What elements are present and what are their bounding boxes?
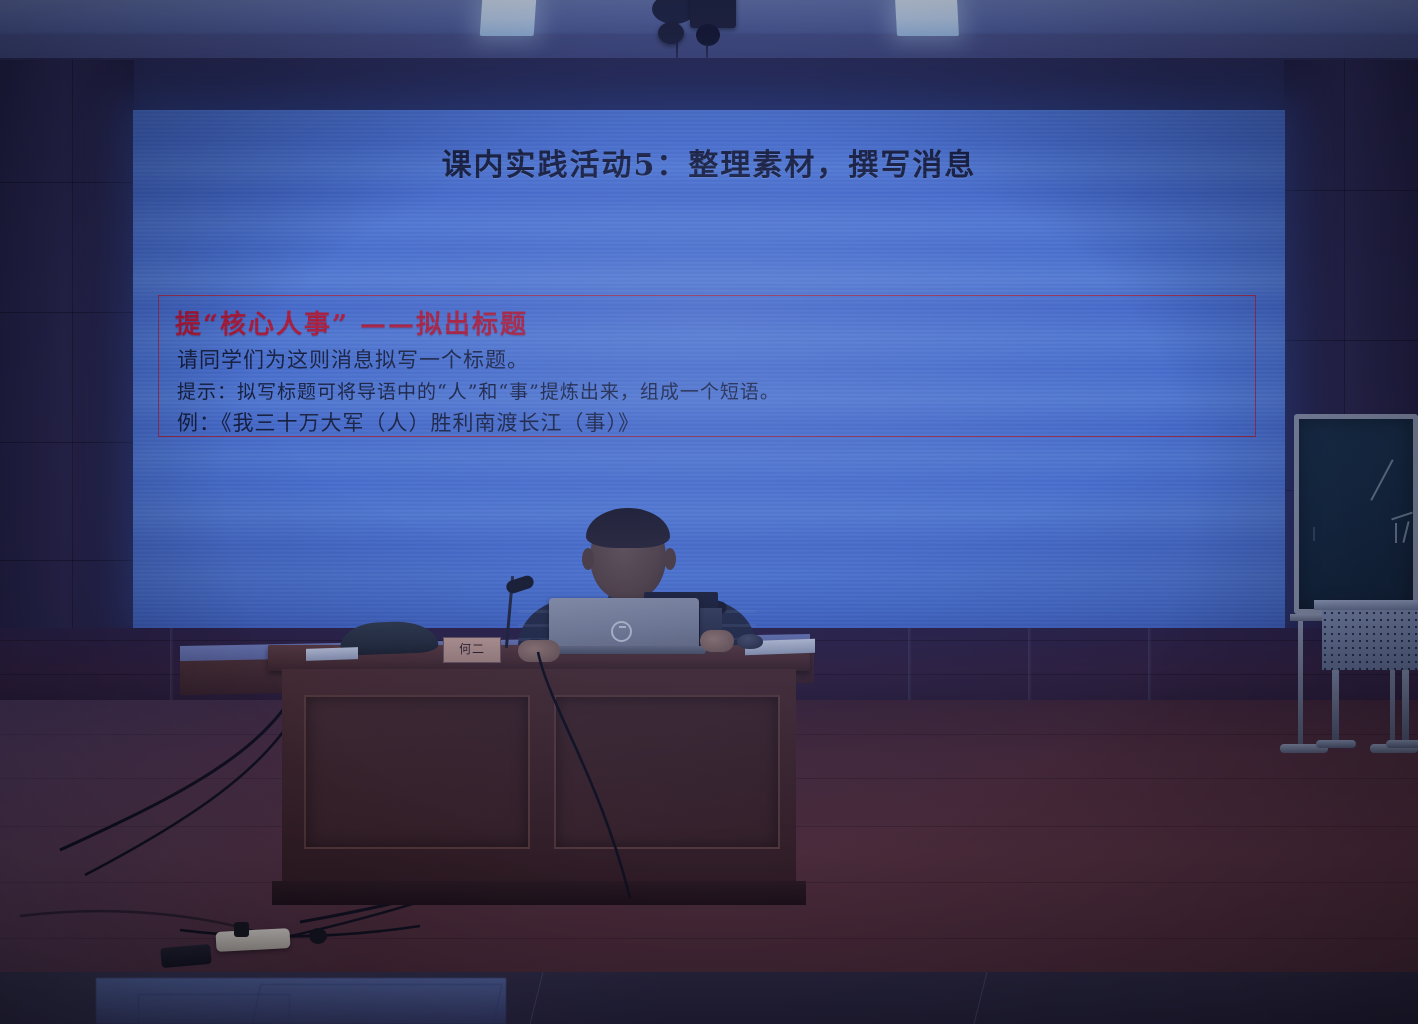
side-table-perforated-apron: [1322, 610, 1418, 670]
ceiling-camera-rig: [0, 0, 1418, 60]
papers: [306, 647, 358, 661]
side-table-foot-right: [1386, 740, 1418, 748]
laptop-lid: [549, 598, 699, 648]
power-strip: [216, 928, 291, 952]
power-plug-1: [234, 922, 249, 937]
side-table-top: [1314, 600, 1418, 610]
slide-content-box: 提“核心人事” ——拟出标题 请同学们为这则消息拟写一个标题。 提示：拟写标题可…: [158, 295, 1256, 437]
camera-lens-icon: [696, 24, 720, 46]
slide-line-3: 例：《我三十万大军（人）胜利南渡长江（事）》: [177, 407, 1243, 437]
presenter-ear-left: [582, 548, 594, 570]
slide-heading: 提“核心人事” ——拟出标题: [175, 304, 1243, 341]
side-table: [1314, 600, 1418, 750]
circle-logo-icon: [611, 621, 632, 642]
wall-above-screen: [134, 60, 1284, 112]
mobile-whiteboard: [1294, 414, 1418, 614]
camera-dome-icon: [658, 22, 684, 44]
power-plug-2: [309, 928, 327, 944]
whiteboard-leg-left: [1298, 621, 1303, 749]
side-table-leg-left: [1332, 670, 1339, 742]
presenter-hair: [586, 508, 670, 548]
podium-cable: [480, 648, 880, 938]
slide-title: 课内实践活动5：整理素材，撰写消息: [133, 140, 1285, 184]
lecture-hall-photo: 课内实践活动5：整理素材，撰写消息 提“核心人事” ——拟出标题 请同学们为这则…: [0, 0, 1418, 1024]
slide-line-2: 提示：拟写标题可将导语中的“人”和“事”提炼出来，组成一个短语。: [177, 377, 1243, 404]
whiteboard-surface: [1294, 414, 1418, 614]
screen-reflection-on-floor: [96, 978, 506, 1024]
computer-mouse[interactable]: [737, 634, 763, 649]
ceiling-camera-icon: [690, 0, 736, 28]
slide-line-1: 请同学们为这则消息拟写一个标题。: [177, 344, 1243, 374]
side-table-leg-right: [1402, 670, 1409, 742]
presenter-ear-right: [664, 548, 676, 570]
laptop[interactable]: [549, 598, 699, 654]
side-table-foot-left: [1316, 740, 1356, 748]
wall-panel-left: [0, 60, 134, 660]
